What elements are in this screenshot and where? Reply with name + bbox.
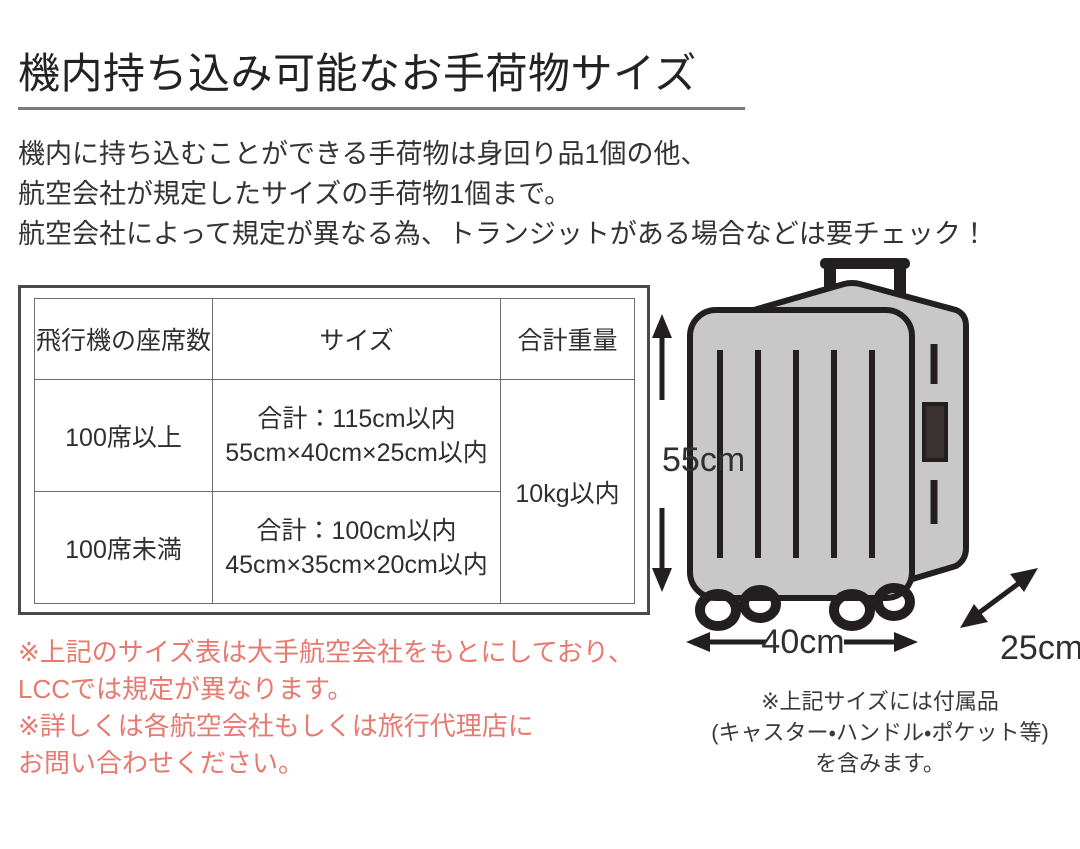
table-header-row: 飛行機の座席数 サイズ 合計重量 <box>35 299 635 380</box>
caption-line-1: ※上記サイズには付属品 <box>680 686 1080 717</box>
cell-size-row2: 合計：100cm以内 45cm×35cm×20cm以内 <box>213 492 501 604</box>
width-dimension-label: 40cm <box>761 623 844 661</box>
intro-line-2: 航空会社が規定したサイズの手荷物1個まで。 <box>18 174 988 214</box>
page-title: 機内持ち込み可能なお手荷物サイズ <box>18 40 697 101</box>
depth-dimension-label: 25cm <box>1000 629 1080 667</box>
note-line-4: お問い合わせください。 <box>18 745 634 782</box>
cell-size-total-row2: 合計：100cm以内 <box>213 514 500 548</box>
cell-size-dims-row2: 45cm×35cm×20cm以内 <box>213 548 500 582</box>
caption-line-3: を含みます。 <box>680 748 1080 779</box>
intro-line-3: 航空会社によって規定が異なる為、トランジットがある場合などは要チェック！ <box>18 214 988 254</box>
cell-size-dims-row1: 55cm×40cm×25cm以内 <box>213 436 500 470</box>
title-divider <box>18 107 745 110</box>
note-line-2: LCCでは規定が異なります。 <box>18 671 634 708</box>
height-dimension-label: 55cm <box>662 441 745 479</box>
cell-seats-row2: 100席未満 <box>35 492 213 604</box>
cell-size-row1: 合計：115cm以内 55cm×40cm×25cm以内 <box>213 380 501 492</box>
caption-line-2: (キャスター・ハンドル・ポケット等) <box>680 717 1080 748</box>
header-weight: 合計重量 <box>501 299 635 380</box>
cell-seats-row1: 100席以上 <box>35 380 213 492</box>
header-seats: 飛行機の座席数 <box>35 299 213 380</box>
depth-dimension-arrow <box>960 568 1038 628</box>
red-disclaimer-notes: ※上記のサイズ表は大手航空会社をもとにしており、 LCCでは規定が異なります。 … <box>18 634 634 782</box>
note-line-3: ※詳しくは各航空会社もしくは旅行代理店に <box>18 708 634 745</box>
header-size: サイズ <box>213 299 501 380</box>
illustration-caption: ※上記サイズには付属品 (キャスター・ハンドル・ポケット等) を含みます。 <box>680 686 1080 779</box>
baggage-size-table: 飛行機の座席数 サイズ 合計重量 100席以上 合計：115cm以内 55cm×… <box>34 298 635 604</box>
note-line-1: ※上記のサイズ表は大手航空会社をもとにしており、 <box>18 634 634 671</box>
cell-weight-merged: 10kg以内 <box>501 380 635 604</box>
cell-size-total-row1: 合計：115cm以内 <box>213 402 500 436</box>
intro-paragraph: 機内に持ち込むことができる手荷物は身回り品1個の他、 航空会社が規定したサイズの… <box>18 134 988 254</box>
suitcase-illustration: 55cm 40cm 25cm <box>648 252 1080 672</box>
table-row: 100席以上 合計：115cm以内 55cm×40cm×25cm以内 10kg以… <box>35 380 635 492</box>
intro-line-1: 機内に持ち込むことができる手荷物は身回り品1個の他、 <box>18 134 988 174</box>
